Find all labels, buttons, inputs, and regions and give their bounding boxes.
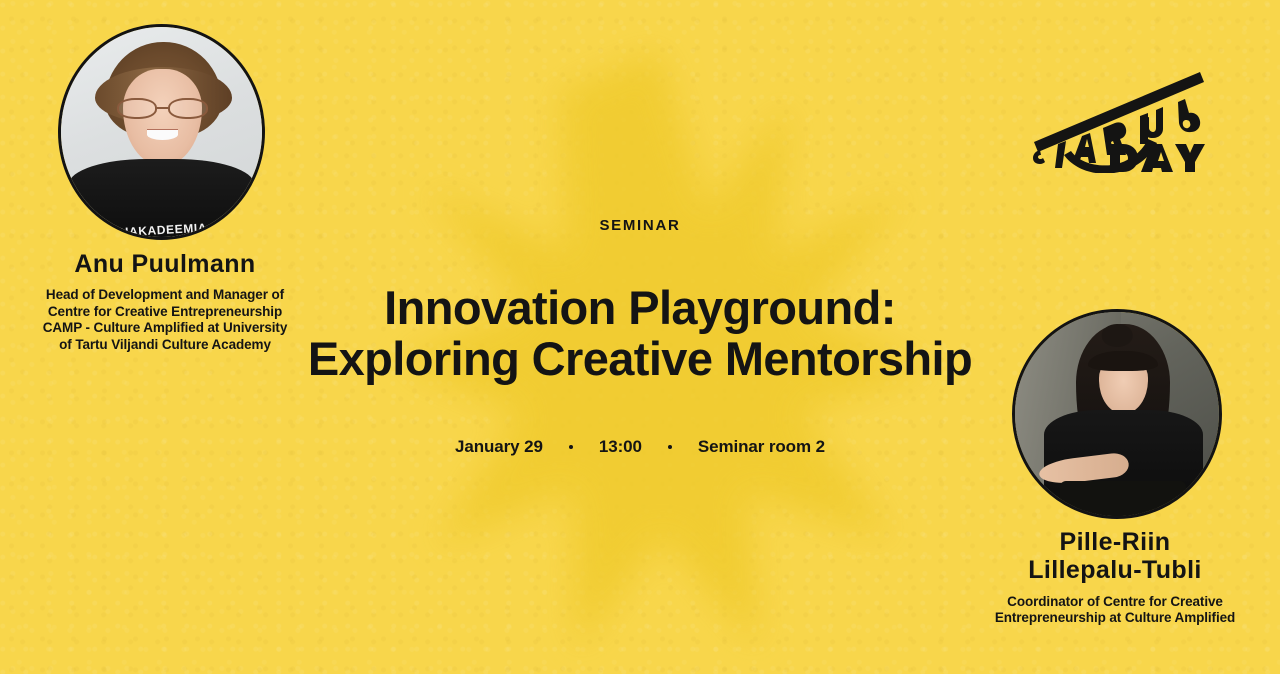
event-title-line-2: Exploring Creative Mentorship [308,334,972,385]
event-promo-poster: DIAKADEEMIA Anu Puulmann Head of Develop… [0,0,1280,674]
eyeglasses-icon [117,98,207,119]
event-meta: January 29 13:00 Seminar room 2 [455,437,825,457]
avatar-shirt-text: DIAKADEEMIA [69,218,254,240]
speaker-right-avatar [1012,309,1222,519]
event-details: SEMINAR Innovation Playground: Exploring… [240,0,1040,674]
speaker-left-avatar: DIAKADEEMIA [58,24,265,240]
event-title-line-1: Innovation Playground: [308,283,972,334]
event-title: Innovation Playground: Exploring Creativ… [308,283,972,385]
avatar-torso: DIAKADEEMIA [69,159,254,240]
event-time: 13:00 [599,437,642,457]
event-location: Seminar room 2 [698,437,825,457]
avatar-hair-bun [1102,324,1133,346]
avatar-ledge [1060,481,1186,516]
avatar-bangs [1088,351,1157,371]
meta-separator-dot-2 [668,445,672,449]
startup-day-logo [1028,58,1218,173]
meta-separator-dot-1 [569,445,573,449]
event-date: January 29 [455,437,543,457]
event-category-label: SEMINAR [599,217,680,234]
